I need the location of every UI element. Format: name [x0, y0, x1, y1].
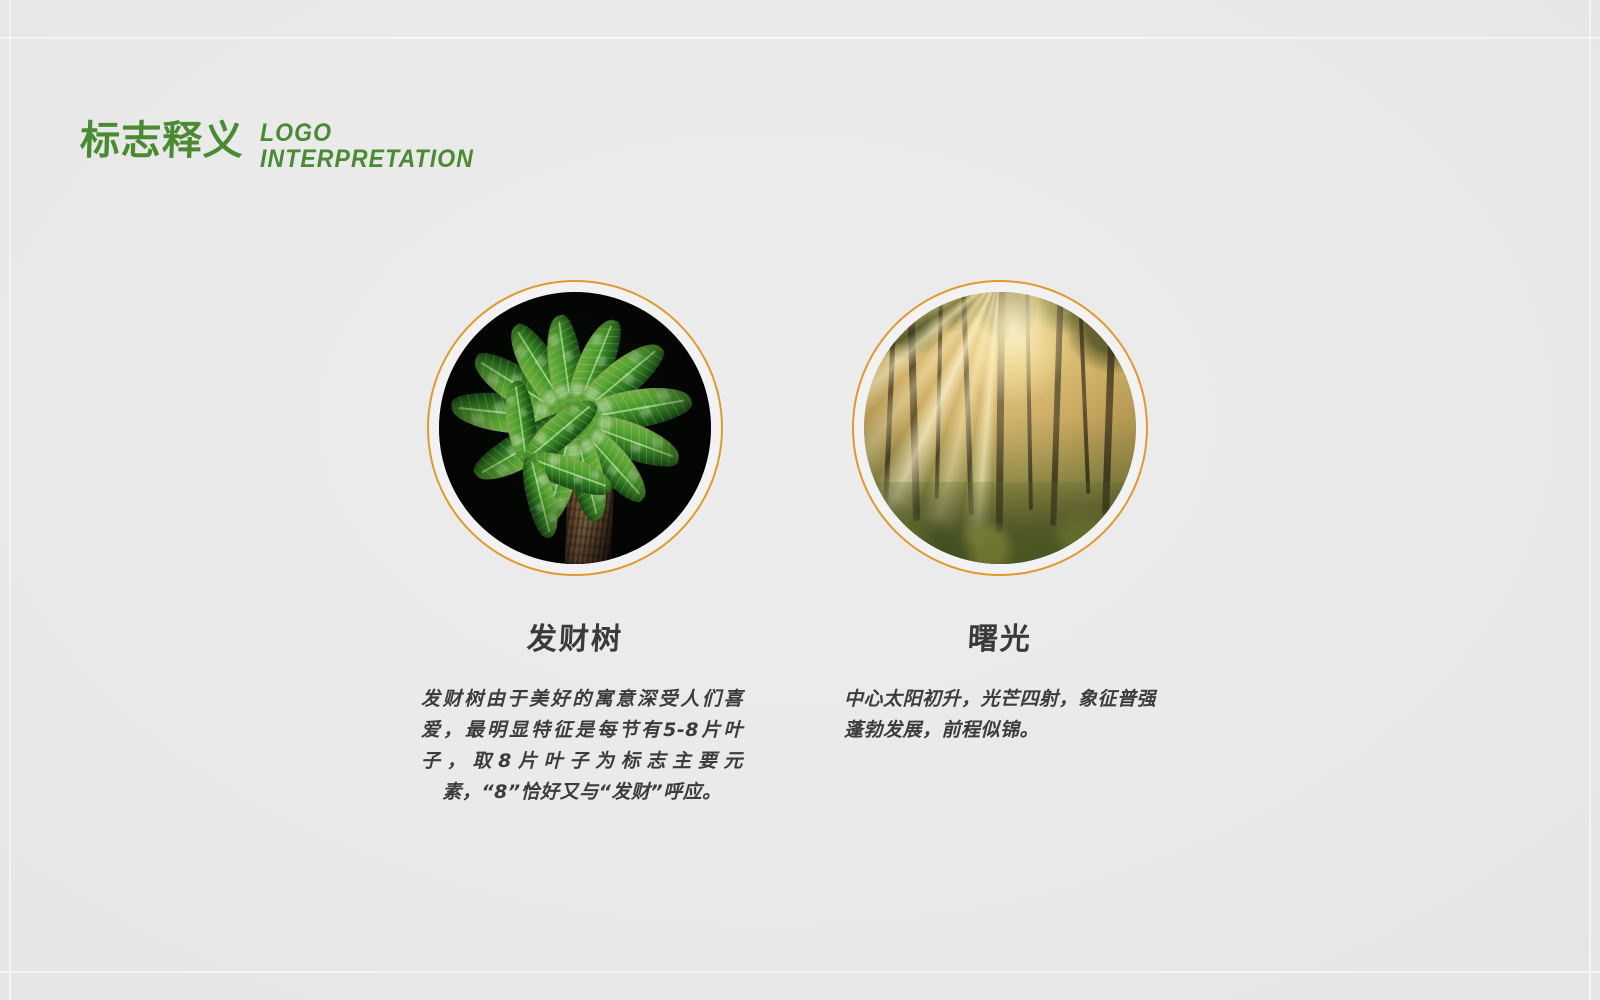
- photo-haze: [864, 292, 1136, 564]
- interpretation-item-money-tree: 发财树 发财树由于美好的寓意深受人们喜爱，最明显特征是每节有5-8片叶子，取8片…: [355, 280, 795, 808]
- medallion-inner-dawn: [864, 292, 1136, 564]
- page-title-en-line1: LOGO: [260, 120, 474, 146]
- caption-body-money-tree: 发财树由于美好的寓意深受人们喜爱，最明显特征是每节有5-8片叶子，取8片叶子为标…: [421, 684, 743, 808]
- medallion-inner-money-tree: [439, 292, 711, 564]
- frame-line-left: [9, 0, 11, 1000]
- caption-body-dawn: 中心太阳初升，光芒四射，象征普强蓬勃发展，前程似锦。: [844, 684, 1166, 746]
- medallion-money-tree: [427, 280, 723, 576]
- page-title-en-line2: INTERPRETATION: [260, 146, 474, 172]
- caption-title-dawn: 曙光: [779, 614, 1221, 658]
- page-header: 标志释义 LOGO INTERPRETATION: [80, 118, 493, 172]
- caption-title-money-tree: 发财树: [354, 614, 796, 658]
- frame-line-top: [0, 37, 1600, 39]
- medallion-dawn: [852, 280, 1148, 576]
- page-title-cn: 标志释义: [79, 118, 245, 164]
- interpretation-item-dawn: 曙光 中心太阳初升，光芒四射，象征普强蓬勃发展，前程似锦。: [780, 280, 1220, 746]
- money-tree-photo: [439, 292, 711, 564]
- sunbeam-forest-photo: [864, 292, 1136, 564]
- photo-vignette: [439, 292, 711, 564]
- frame-line-bottom: [0, 971, 1600, 973]
- slide-canvas: 标志释义 LOGO INTERPRETATION: [0, 0, 1600, 1000]
- page-title-en: LOGO INTERPRETATION: [260, 120, 474, 172]
- frame-line-right: [1589, 0, 1591, 1000]
